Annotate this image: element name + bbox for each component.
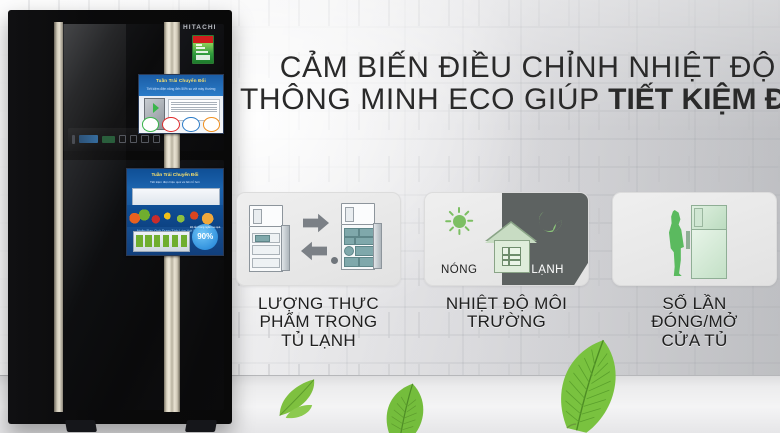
tray-item-3 xyxy=(154,235,161,247)
fridge-foot-right xyxy=(185,420,217,432)
caption-line-3: TỦ LẠNH xyxy=(236,332,401,350)
fridge-handle-strip-left xyxy=(54,22,63,412)
feature-card-food-amount: LƯỢNG THỰC PHẨM TRONG TỦ LẠNH xyxy=(236,192,401,350)
label-hot: NÓNG xyxy=(441,264,478,276)
caption-line-2: PHẨM TRONG xyxy=(236,313,401,331)
food-6 xyxy=(355,246,374,256)
promo-banner: HITACHI Tuần Trải Chuyển Đổi Tiết kiệm đ… xyxy=(0,0,780,433)
card-caption-door-open-count: SỐ LẦN ĐÓNG/MỞ CỬA TỦ xyxy=(612,295,777,350)
energy-label-bar-1 xyxy=(196,44,202,46)
control-display-mode xyxy=(102,136,114,143)
fridge-door-open-full xyxy=(373,223,382,269)
sun-icon xyxy=(447,209,471,233)
green-fridge-inner-shelf xyxy=(694,208,703,227)
badge-blue xyxy=(182,117,200,132)
shelf-3 xyxy=(252,258,280,268)
control-button-2[interactable] xyxy=(130,135,137,143)
headline-line-2-emphasis: TIẾT KIỆM ĐIỆN xyxy=(608,83,780,116)
full-fridge-icon xyxy=(341,203,375,270)
control-button-4[interactable] xyxy=(153,135,160,143)
empty-fridge-icon xyxy=(249,205,283,272)
caption-line-2: ĐÓNG/MỞ xyxy=(612,313,777,331)
control-button-3[interactable] xyxy=(141,135,148,143)
card-icon-box: NÓNG LẠNH xyxy=(424,192,589,286)
sticker-bottom-title: Tuần Trải Chuyển Đổi xyxy=(152,172,199,177)
inverter-sticker-top: Tuần Trải Chuyển Đổi Tiết kiệm điện năng… xyxy=(138,74,224,134)
feature-card-ambient-temperature: NÓNG LẠNH NHIỆT ĐỘ MÔI TRƯỜNG xyxy=(424,192,589,350)
sticker-top-title: Tuần Trải Chuyển Đổi xyxy=(156,78,206,83)
tray-item-6 xyxy=(181,235,188,247)
caption-line-1: LƯỢNG THỰC xyxy=(236,295,401,313)
food-8 xyxy=(359,257,374,267)
tray-item-4 xyxy=(163,235,170,247)
tray-item-1 xyxy=(136,235,143,247)
card-caption-food-amount: LƯỢNG THỰC PHẨM TRONG TỦ LẠNH xyxy=(236,295,401,350)
green-fridge-icon xyxy=(691,205,727,279)
food-3 xyxy=(344,237,355,245)
sticker-top-subtitle: Tiết kiệm điện năng đến 50% so với máy t… xyxy=(147,87,216,91)
food-7 xyxy=(344,257,359,267)
green-fridge-cooler xyxy=(691,230,727,279)
caption-line-1: NHIỆT ĐỘ MÔI xyxy=(424,295,589,313)
food-4 xyxy=(355,237,374,245)
sticker-bottom-subtitle: Tiết kiệm điện hiệu quả và bền bỉ hơn xyxy=(150,180,200,184)
tray-item-5 xyxy=(172,235,179,247)
control-display-temp xyxy=(79,135,99,143)
fridge-freezer-compartment-full xyxy=(341,203,375,225)
food-1 xyxy=(344,228,359,237)
fridge-freezer-compartment xyxy=(249,205,283,227)
house-icon xyxy=(485,221,537,273)
card-icon-box xyxy=(236,192,401,286)
energy-label-bar-3 xyxy=(196,51,208,53)
fridge-cooler-compartment xyxy=(249,227,283,272)
hitachi-logo: HITACHI xyxy=(183,24,217,31)
caption-line-1: SỐ LẦN xyxy=(612,295,777,313)
fridge-foot-left xyxy=(65,420,97,432)
humidity-badge-label: Độ ẩm trong ngăn rau quả xyxy=(190,226,220,229)
feature-cards: LƯỢNG THỰC PHẨM TRONG TỦ LẠNH xyxy=(236,192,780,350)
refrigerator-product-image: HITACHI Tuần Trải Chuyển Đổi Tiết kiệm đ… xyxy=(8,10,232,424)
tray-item-2 xyxy=(145,235,152,247)
sticker-crisper-tray-graphic xyxy=(133,231,191,252)
food-2 xyxy=(359,228,374,237)
label-cold: LẠNH xyxy=(531,264,564,276)
energy-rating-label xyxy=(192,35,214,64)
arrow-left-icon xyxy=(301,241,327,261)
energy-label-bar-2 xyxy=(196,47,205,49)
control-led-icon xyxy=(72,135,75,144)
green-fridge-handle xyxy=(686,231,690,249)
arrow-right-icon xyxy=(303,213,329,233)
house-window xyxy=(502,247,521,266)
vegetable-sticker-bottom: Tuần Trải Chuyển Đổi Tiết kiệm điện hiệu… xyxy=(126,168,224,256)
shelf-2 xyxy=(252,245,280,255)
feature-card-door-open-count: SỐ LẦN ĐÓNG/MỞ CỬA TỦ xyxy=(612,192,777,350)
green-fridge-freezer xyxy=(691,205,727,230)
caption-line-3: CỬA TỦ xyxy=(612,332,777,350)
decor-dot xyxy=(331,257,338,264)
headline-line-2-normal: THÔNG MINH ECO GIÚP xyxy=(240,83,608,116)
control-button-1[interactable] xyxy=(119,135,126,143)
leaf-medium-center xyxy=(374,378,439,433)
sticker-green-arrow xyxy=(153,103,159,113)
badge-orange xyxy=(203,117,221,132)
fridge-cooler-compartment-full xyxy=(341,225,375,270)
fridge-door-open xyxy=(281,225,290,271)
energy-label-value xyxy=(196,55,210,60)
headline-line-2: THÔNG MINH ECO GIÚP TIẾT KIỆM ĐIỆN xyxy=(240,84,776,116)
card-caption-ambient-temperature: NHIỆT ĐỘ MÔI TRƯỜNG xyxy=(424,295,589,332)
fridge-control-panel[interactable] xyxy=(68,128,160,150)
card-icon-box xyxy=(612,192,777,286)
humidity-badge-value: 90% xyxy=(197,232,213,241)
humidity-badge: Độ ẩm trong ngăn rau quả 90% xyxy=(192,224,218,250)
badge-red xyxy=(162,117,180,132)
headline: CẢM BIẾN ĐIỀU CHỈNH NHIỆT ĐỘ THÔNG MINH … xyxy=(240,52,776,116)
person-silhouette-icon xyxy=(665,210,687,276)
headline-line-1: CẢM BIẾN ĐIỀU CHỈNH NHIỆT ĐỘ xyxy=(240,52,776,84)
food-item-sparse xyxy=(255,235,270,242)
food-5 xyxy=(344,246,354,256)
